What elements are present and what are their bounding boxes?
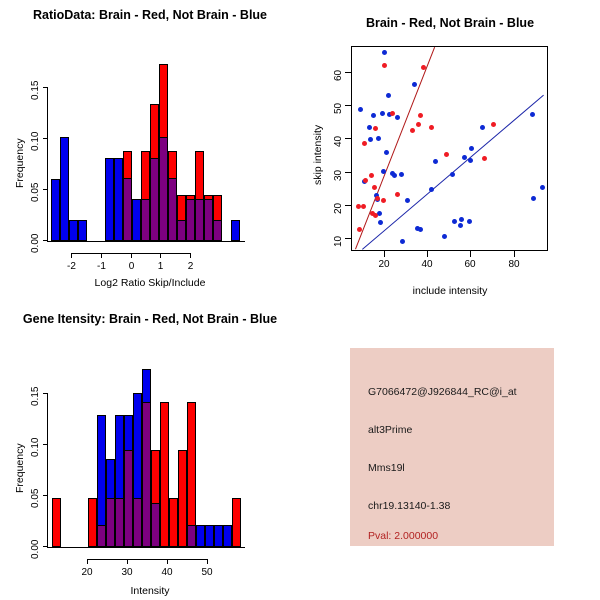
scatter-point [362, 141, 367, 146]
scatter-y-ticklabel-60: 60 [333, 70, 344, 81]
gene-bar [88, 498, 97, 547]
gene-y-ticklabel-0.05: 0.05 [30, 489, 41, 508]
gene-symbol-text: Mms19l [368, 462, 405, 474]
scatter-point [405, 198, 410, 203]
gene-histogram-panel: Gene Itensity: Brain - Red, Not Brain - … [0, 300, 300, 600]
scatter-point [452, 219, 457, 224]
ratio-y-ticklabel-0.15: 0.15 [30, 81, 41, 100]
ratio-bar [231, 220, 240, 241]
ratio-x-tick-0 [131, 253, 132, 258]
gene-bar [205, 525, 214, 547]
scatter-xlabel: include intensity [300, 285, 600, 297]
scatter-y-tick-40 [345, 138, 351, 139]
ratio-bar-overlap [141, 199, 150, 241]
ratio-bar [69, 220, 78, 241]
gene-x-tick-40 [167, 559, 168, 564]
gene-bar [169, 498, 178, 547]
scatter-point [418, 113, 423, 118]
ratio-bar-overlap [177, 220, 186, 241]
gene-x-ticklabel-20: 20 [79, 567, 95, 578]
ratio-histogram-ylabel: Frequency [14, 138, 26, 188]
gene-bar-overlap [151, 503, 160, 547]
scatter-x-ticklabel-60: 60 [462, 259, 478, 270]
scatter-point [400, 239, 405, 244]
ratio-y-ticklabel-0.10: 0.10 [30, 132, 41, 151]
scatter-x-tick-20 [384, 251, 385, 257]
gene-x-ticklabel-40: 40 [159, 567, 175, 578]
gene-x-ticklabel-30: 30 [119, 567, 135, 578]
ratio-bar-overlap [168, 178, 177, 241]
scatter-point [469, 146, 474, 151]
gene-info-panel: G7066472@J926844_RC@i_at alt3Prime Mms19… [350, 348, 554, 546]
scatter-point [384, 150, 389, 155]
scatter-point [381, 198, 386, 203]
scatter-point [369, 173, 374, 178]
scatter-point [399, 172, 404, 177]
scatter-point [444, 152, 449, 157]
scatter-point [429, 125, 434, 130]
scatter-y-ticklabel-40: 40 [333, 136, 344, 147]
scatter-x-tick-80 [514, 251, 515, 257]
ratio-baseline [47, 241, 245, 242]
scatter-x-ticklabel-20: 20 [376, 259, 392, 270]
ratio-x-ticklabel--2: -2 [64, 261, 79, 272]
scatter-point [459, 217, 464, 222]
gene-baseline [47, 547, 245, 548]
gene-x-axis [87, 559, 207, 560]
gene-histogram-xlabel: Intensity [0, 585, 300, 597]
scatter-panel: Brain - Red, Not Brain - Blue skip inten… [300, 0, 600, 300]
scatter-point [416, 122, 421, 127]
scatter-y-ticklabel-50: 50 [333, 103, 344, 114]
scatter-point [358, 107, 363, 112]
scatter-point [377, 211, 382, 216]
gene-x-tick-30 [127, 559, 128, 564]
ratio-bar-overlap [159, 137, 168, 241]
scatter-point [480, 125, 485, 130]
gene-y-ticklabel-0.10: 0.10 [30, 438, 41, 457]
ratio-x-ticklabel-2: 2 [183, 261, 198, 272]
gene-bar [52, 498, 61, 547]
scatter-point [468, 158, 473, 163]
gene-x-ticklabel-50: 50 [199, 567, 215, 578]
ratio-x-ticklabel-0: 0 [124, 261, 139, 272]
gene-bar-overlap [97, 525, 106, 547]
gene-bar [214, 525, 223, 547]
scatter-point [482, 156, 487, 161]
scatter-point [395, 115, 400, 120]
ratio-bar-overlap [123, 178, 132, 241]
scatter-point [368, 137, 373, 142]
scatter-point [386, 93, 391, 98]
scatter-point [462, 155, 467, 160]
gene-bar [160, 402, 169, 547]
gene-y-ticklabel-0.00: 0.00 [30, 540, 41, 559]
ratio-bar [105, 158, 114, 241]
splice-type-text: alt3Prime [368, 424, 412, 436]
scatter-point [363, 178, 368, 183]
ratio-histogram-title: RatioData: Brain - Red, Not Brain - Blue [0, 8, 300, 22]
gene-bar [223, 525, 232, 547]
scatter-point [376, 136, 381, 141]
scatter-y-ticklabel-20: 20 [333, 203, 344, 214]
ratio-x-tick-1 [160, 253, 161, 258]
ratio-bar [51, 179, 60, 241]
scatter-point [410, 128, 415, 133]
scatter-point [429, 187, 434, 192]
scatter-point [372, 185, 377, 190]
scatter-point [378, 220, 383, 225]
ratio-histogram-xlabel: Log2 Ratio Skip/Include [0, 277, 300, 289]
scatter-y-tick-10 [345, 238, 351, 239]
gene-x-tick-50 [207, 559, 208, 564]
ratio-bar-overlap [195, 199, 204, 241]
scatter-x-tick-40 [427, 251, 428, 257]
scatter-x-ticklabel-80: 80 [506, 259, 522, 270]
scatter-point [442, 234, 447, 239]
scatter-point [382, 50, 387, 55]
scatter-point [381, 169, 386, 174]
gene-x-tick-20 [87, 559, 88, 564]
scatter-y-ticklabel-30: 30 [333, 170, 344, 181]
ratio-y-ticklabel-0.05: 0.05 [30, 183, 41, 202]
scatter-point [491, 122, 496, 127]
ratio-bar [60, 137, 69, 241]
ratio-x-tick--1 [101, 253, 102, 258]
gene-bar [232, 498, 241, 547]
scatter-y-ticklabel-10: 10 [333, 236, 344, 247]
scatter-point [395, 192, 400, 197]
scatter-point [371, 113, 376, 118]
ratio-bar-overlap [204, 199, 213, 241]
ratio-bar [132, 199, 141, 241]
ratio-bar [78, 220, 87, 241]
scatter-point [530, 112, 535, 117]
scatter-point [433, 159, 438, 164]
ratio-bar-overlap [150, 158, 159, 241]
gene-histogram-ylabel: Frequency [14, 443, 26, 493]
gene-y-ticklabel-0.15: 0.15 [30, 387, 41, 406]
scatter-y-tick-60 [345, 72, 351, 73]
ratio-histogram-panel: RatioData: Brain - Red, Not Brain - Blue… [0, 0, 300, 300]
gene-bar-overlap [124, 450, 133, 547]
ratio-y-ticklabel-0.00: 0.00 [30, 234, 41, 253]
gene-bar-overlap [142, 402, 151, 547]
gene-bar-overlap [187, 525, 196, 547]
scatter-point [450, 172, 455, 177]
scatter-point [540, 185, 545, 190]
gene-bar-overlap [133, 498, 142, 547]
pvalue-text: Pval: 2.000000 [368, 530, 438, 542]
scatter-point [357, 227, 362, 232]
ratio-x-ticklabel--1: -1 [94, 261, 109, 272]
gene-histogram-bars [47, 360, 245, 547]
ratio-histogram-bars [47, 60, 245, 241]
scatter-point [356, 204, 361, 209]
scatter-y-tick-30 [345, 172, 351, 173]
scatter-point [367, 125, 372, 130]
scatter-x-tick-60 [470, 251, 471, 257]
scatter-point [382, 63, 387, 68]
scatter-x-ticklabel-40: 40 [419, 259, 435, 270]
gene-histogram-title: Gene Itensity: Brain - Red, Not Brain - … [0, 312, 300, 326]
gene-bar-overlap [115, 498, 124, 547]
probe-id-text: G7066472@J926844_RC@i_at [368, 386, 517, 398]
locus-text: chr19.13140-1.38 [368, 500, 450, 512]
scatter-point [361, 204, 366, 209]
scatter-point [373, 126, 378, 131]
ratio-x-tick-2 [190, 253, 191, 258]
scatter-title: Brain - Red, Not Brain - Blue [300, 16, 600, 30]
ratio-x-ticklabel-1: 1 [153, 261, 168, 272]
ratio-bar-overlap [186, 199, 195, 241]
ratio-bar-overlap [213, 220, 222, 241]
scatter-y-tick-20 [345, 205, 351, 206]
scatter-point [412, 82, 417, 87]
scatter-point [458, 223, 463, 228]
scatter-ylabel: skip intensity [312, 125, 324, 185]
scatter-point [418, 227, 423, 232]
ratio-x-tick--2 [71, 253, 72, 258]
ratio-bar [114, 158, 123, 241]
scatter-point [531, 196, 536, 201]
scatter-point [392, 173, 397, 178]
scatter-points-area [352, 47, 547, 250]
gene-bar-overlap [106, 498, 115, 547]
scatter-point [373, 213, 378, 218]
scatter-point [380, 111, 385, 116]
gene-bar [178, 450, 187, 547]
gene-bar [196, 525, 205, 547]
scatter-point [467, 219, 472, 224]
scatter-y-tick-50 [345, 105, 351, 106]
